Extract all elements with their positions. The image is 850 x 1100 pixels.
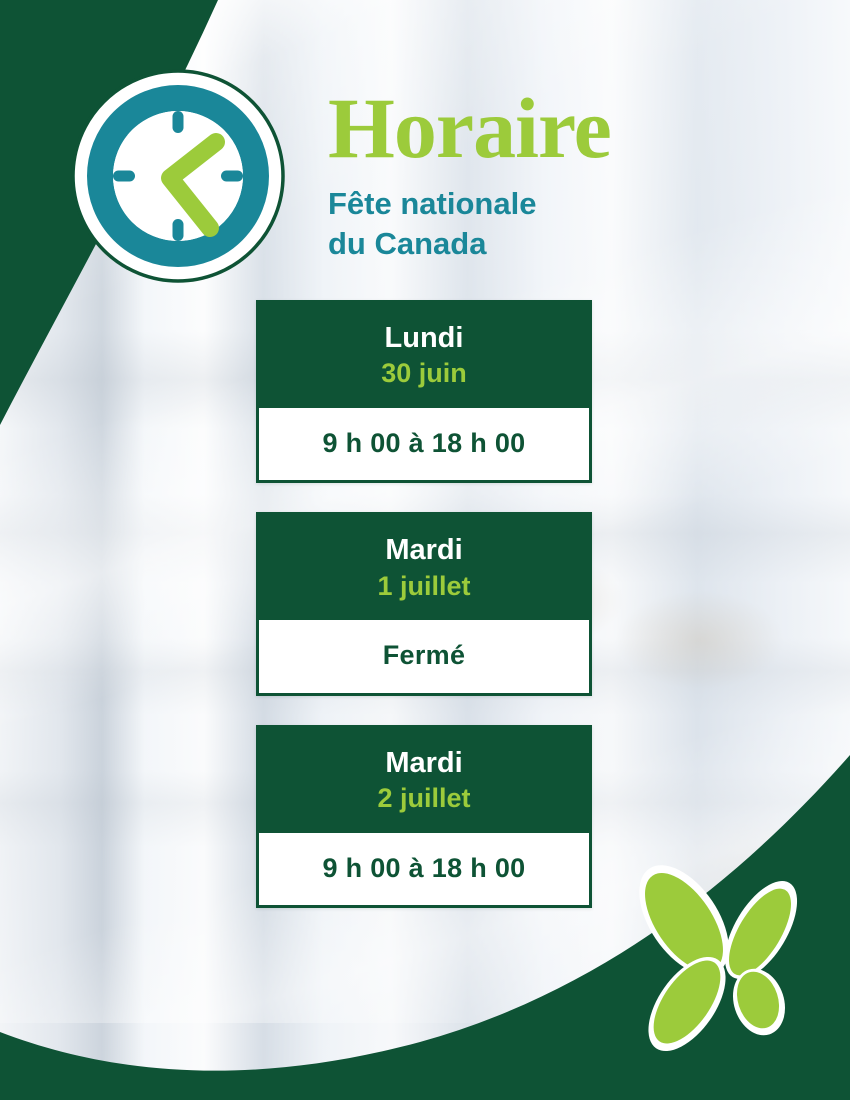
schedule-date: 2 juillet	[266, 782, 582, 814]
schedule-card: Mardi 2 juillet 9 h 00 à 18 h 00	[256, 725, 592, 908]
clock-icon	[70, 68, 286, 284]
schedule-card-header: Lundi 30 juin	[256, 300, 592, 408]
schedule-card-header: Mardi 2 juillet	[256, 725, 592, 833]
poster-header: Horaire Fête nationale du Canada	[328, 88, 788, 264]
schedule-day: Lundi	[266, 322, 582, 355]
page-title: Horaire	[328, 88, 788, 170]
schedule-day: Mardi	[266, 747, 582, 780]
schedule-hours: 9 h 00 à 18 h 00	[267, 429, 581, 459]
schedule-hours: Fermé	[267, 641, 581, 671]
schedule-hours: 9 h 00 à 18 h 00	[267, 854, 581, 884]
schedule-card: Mardi 1 juillet Fermé	[256, 512, 592, 695]
schedule-card-body: Fermé	[256, 620, 592, 696]
schedule-card: Lundi 30 juin 9 h 00 à 18 h 00	[256, 300, 592, 483]
schedule-card-body: 9 h 00 à 18 h 00	[256, 833, 592, 909]
schedule-date: 30 juin	[266, 357, 582, 389]
butterfly-logo	[614, 852, 830, 1068]
schedule-card-body: 9 h 00 à 18 h 00	[256, 408, 592, 484]
page-subtitle: Fête nationale du Canada	[328, 184, 788, 265]
schedule-day: Mardi	[266, 534, 582, 567]
schedule-list: Lundi 30 juin 9 h 00 à 18 h 00 Mardi 1 j…	[256, 300, 592, 908]
schedule-poster: Horaire Fête nationale du Canada Lundi 3…	[0, 0, 850, 1100]
schedule-date: 1 juillet	[266, 570, 582, 602]
schedule-card-header: Mardi 1 juillet	[256, 512, 592, 620]
